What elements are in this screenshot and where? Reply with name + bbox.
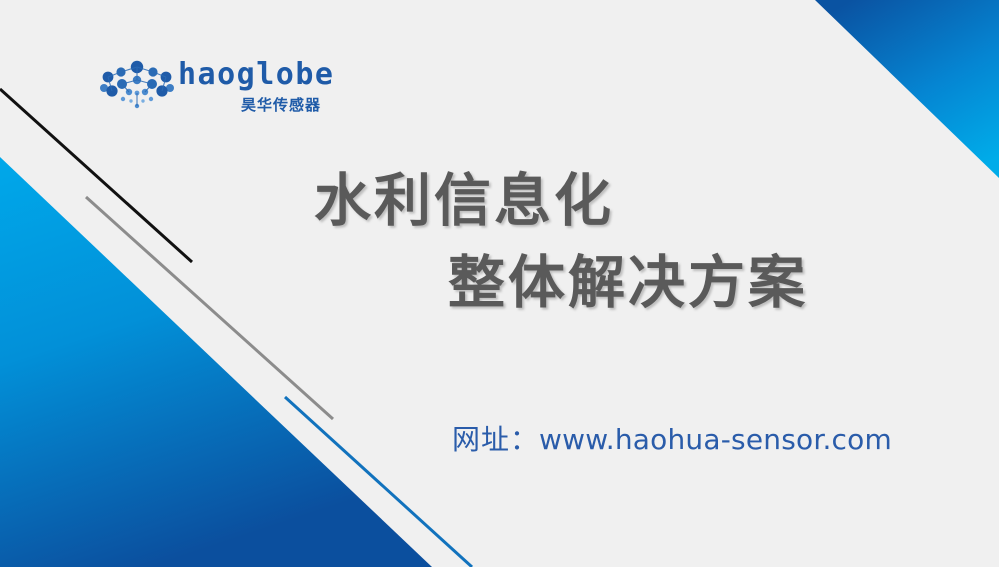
website-label: 网址： [452, 423, 539, 456]
slide-title: 水利信息化 整体解决方案 [300, 160, 880, 324]
website-line: 网址：www.haohua-sensor.com [452, 418, 892, 458]
presentation-slide: haoglobe 昊华传感器 水利信息化 整体解决方案 网址：www.haohu… [0, 0, 999, 567]
title-line-2: 整体解决方案 [448, 242, 880, 324]
network-nodes-logo-icon [98, 60, 176, 112]
right-blue-wedge [815, 0, 999, 178]
title-line-1: 水利信息化 [314, 160, 880, 242]
brand-wordmark: haoglobe [178, 58, 335, 92]
website-url[interactable]: www.haohua-sensor.com [539, 423, 892, 456]
brand-chinese-name: 昊华传感器 [241, 94, 321, 115]
company-logo: haoglobe 昊华传感器 [98, 58, 328, 120]
